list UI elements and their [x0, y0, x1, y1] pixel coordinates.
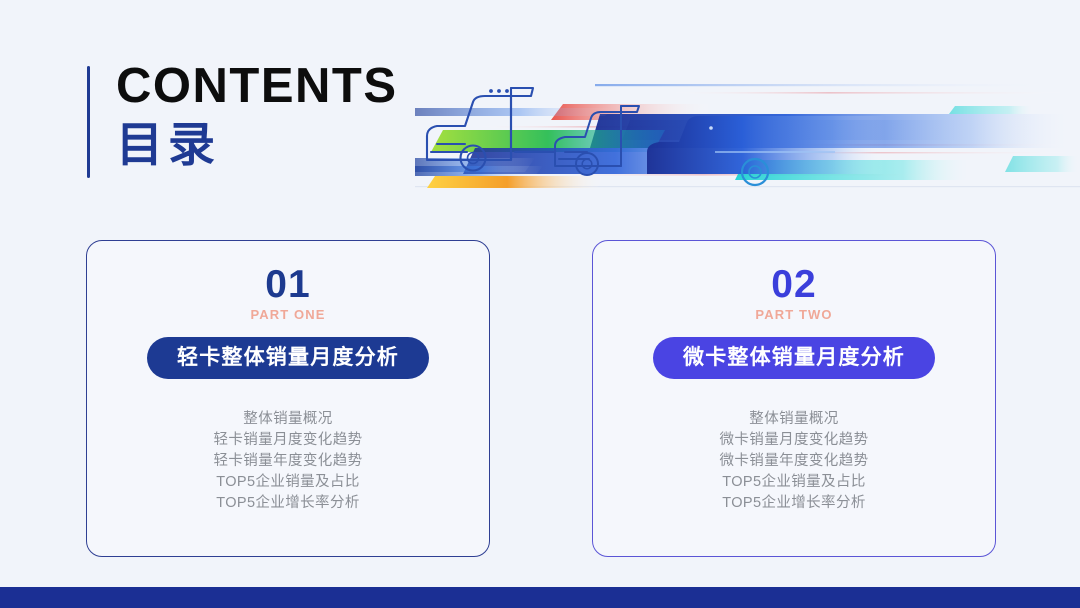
speed-streak-lines-background — [415, 84, 1080, 187]
truck-3-silhouette — [647, 116, 885, 185]
card-number-01: 01 — [87, 263, 489, 307]
list-item[interactable]: 整体销量概况 — [87, 409, 489, 430]
slide-header: CONTENTS 目录 — [0, 0, 1080, 200]
footer-accent-bar — [0, 587, 1080, 608]
card-item-list-01: 整体销量概况 轻卡销量月度变化趋势 轻卡销量年度变化趋势 TOP5企业销量及占比… — [87, 409, 489, 514]
card-part-label-02: PART TWO — [593, 307, 995, 323]
card-number-02: 02 — [593, 263, 995, 307]
card-title-pill-01[interactable]: 轻卡整体销量月度分析 — [147, 337, 429, 379]
ground-speed-streak — [415, 166, 605, 188]
list-item[interactable]: 轻卡销量年度变化趋势 — [87, 451, 489, 472]
list-item[interactable]: 微卡销量月度变化趋势 — [593, 430, 995, 451]
card-item-list-02: 整体销量概况 微卡销量月度变化趋势 微卡销量年度变化趋势 TOP5企业销量及占比… — [593, 409, 995, 514]
list-item[interactable]: 微卡销量年度变化趋势 — [593, 451, 995, 472]
list-item[interactable]: 整体销量概况 — [593, 409, 995, 430]
contents-card-01[interactable]: 01 PART ONE 轻卡整体销量月度分析 整体销量概况 轻卡销量月度变化趋势… — [86, 240, 490, 557]
list-item[interactable]: TOP5企业销量及占比 — [87, 472, 489, 493]
title-chinese: 目录 — [116, 116, 398, 174]
list-item[interactable]: TOP5企业增长率分析 — [87, 493, 489, 514]
truck-1-roof-lamps — [489, 89, 509, 93]
title-accent-rule — [87, 66, 90, 178]
speed-streak-bars — [415, 104, 1080, 180]
list-item[interactable]: TOP5企业增长率分析 — [593, 493, 995, 514]
contents-cards: 01 PART ONE 轻卡整体销量月度分析 整体销量概况 轻卡销量月度变化趋势… — [0, 240, 1080, 560]
list-item[interactable]: 轻卡销量月度变化趋势 — [87, 430, 489, 451]
card-title-pill-02[interactable]: 微卡整体销量月度分析 — [653, 337, 935, 379]
trucks-speed-lines-illustration — [415, 48, 1080, 196]
page-title: CONTENTS 目录 — [116, 58, 398, 174]
card-part-label-01: PART ONE — [87, 307, 489, 323]
truck-2-outline — [555, 106, 639, 175]
truck-1-outline — [427, 88, 555, 171]
slide-root: CONTENTS 目录 — [0, 0, 1080, 608]
contents-card-02[interactable]: 02 PART TWO 微卡整体销量月度分析 整体销量概况 微卡销量月度变化趋势… — [592, 240, 996, 557]
title-english: CONTENTS — [116, 58, 398, 114]
list-item[interactable]: TOP5企业销量及占比 — [593, 472, 995, 493]
